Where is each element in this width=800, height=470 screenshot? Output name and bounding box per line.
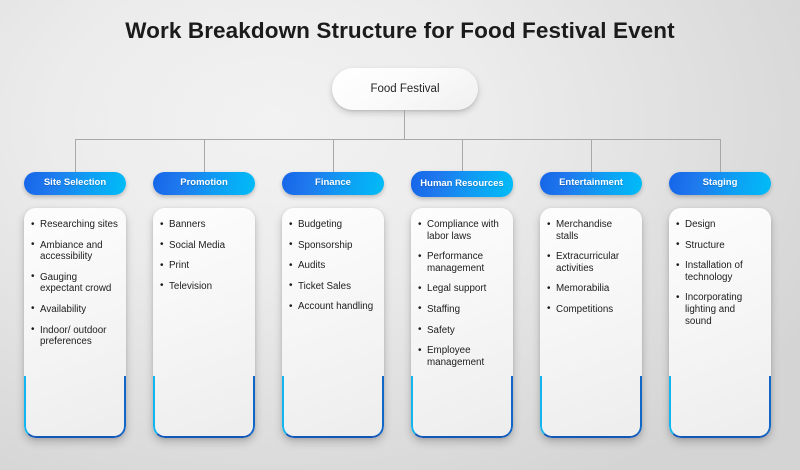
branch-column-human-resources: Human Resources Compliance with labor la… <box>411 172 513 438</box>
branch-badge-entertainment[interactable]: Entertainment <box>540 172 642 195</box>
root-node-label: Food Festival <box>370 83 439 95</box>
card-accent-border <box>282 376 384 438</box>
list-item: Indoor/ outdoor preferences <box>40 325 119 348</box>
wbs-diagram: Work Breakdown Structure for Food Festiv… <box>0 0 800 470</box>
list-item: Incorporating lighting and sound <box>685 292 764 327</box>
list-item: Audits <box>298 260 377 272</box>
branch-badge-label: Human Resources <box>420 179 503 190</box>
branch-card-staging: Design Structure Installation of technol… <box>669 208 771 438</box>
list-item: Compliance with labor laws <box>427 219 506 242</box>
list-item: Availability <box>40 304 119 316</box>
branch-task-list: Banners Social Media Print Television <box>153 208 255 292</box>
list-item: Social Media <box>169 240 248 252</box>
branch-column-site-selection: Site Selection Researching sites Ambianc… <box>24 172 126 438</box>
branch-badge-site-selection[interactable]: Site Selection <box>24 172 126 195</box>
branch-badge-finance[interactable]: Finance <box>282 172 384 195</box>
list-item: Design <box>685 219 764 231</box>
card-accent-border <box>411 376 513 438</box>
list-item: Budgeting <box>298 219 377 231</box>
list-item: Print <box>169 260 248 272</box>
list-item: Legal support <box>427 283 506 295</box>
branch-task-list: Researching sites Ambiance and accessibi… <box>24 208 126 348</box>
card-accent-border <box>540 376 642 438</box>
branch-badge-label: Entertainment <box>559 178 623 189</box>
branch-card-site-selection: Researching sites Ambiance and accessibi… <box>24 208 126 438</box>
list-item: Ambiance and accessibility <box>40 240 119 263</box>
branch-badge-staging[interactable]: Staging <box>669 172 771 195</box>
branch-task-list: Budgeting Sponsorship Audits Ticket Sale… <box>282 208 384 313</box>
branch-column-entertainment: Entertainment Merchandise stalls Extracu… <box>540 172 642 438</box>
branch-column-promotion: Promotion Banners Social Media Print Tel… <box>153 172 255 438</box>
list-item: Staffing <box>427 304 506 316</box>
list-item: Television <box>169 281 248 293</box>
branch-badge-promotion[interactable]: Promotion <box>153 172 255 195</box>
connector-drop-1 <box>75 139 76 172</box>
list-item: Banners <box>169 219 248 231</box>
list-item: Safety <box>427 325 506 337</box>
list-item: Competitions <box>556 304 635 316</box>
branch-card-human-resources: Compliance with labor laws Performance m… <box>411 208 513 438</box>
branch-badge-label: Staging <box>703 178 738 189</box>
page-title: Work Breakdown Structure for Food Festiv… <box>0 18 800 44</box>
branch-badge-label: Promotion <box>180 178 228 189</box>
list-item: Merchandise stalls <box>556 219 635 242</box>
list-item: Ticket Sales <box>298 281 377 293</box>
connector-horizontal-bus <box>75 139 721 140</box>
list-item: Performance management <box>427 251 506 274</box>
list-item: Extracurricular activities <box>556 251 635 274</box>
branch-column-staging: Staging Design Structure Installation of… <box>669 172 771 438</box>
branch-card-promotion: Banners Social Media Print Television <box>153 208 255 438</box>
connector-drop-4 <box>462 139 463 172</box>
list-item: Installation of technology <box>685 260 764 283</box>
branch-task-list: Compliance with labor laws Performance m… <box>411 208 513 368</box>
list-item: Structure <box>685 240 764 252</box>
card-accent-border <box>669 376 771 438</box>
connector-drop-5 <box>591 139 592 172</box>
branch-badge-human-resources[interactable]: Human Resources <box>411 171 513 197</box>
branch-badge-label: Site Selection <box>44 178 106 189</box>
card-accent-border <box>153 376 255 438</box>
connector-root-stem <box>404 110 405 139</box>
connector-drop-3 <box>333 139 334 172</box>
branch-card-entertainment: Merchandise stalls Extracurricular activ… <box>540 208 642 438</box>
branch-column-finance: Finance Budgeting Sponsorship Audits Tic… <box>282 172 384 438</box>
card-accent-border <box>24 376 126 438</box>
list-item: Sponsorship <box>298 240 377 252</box>
branch-card-finance: Budgeting Sponsorship Audits Ticket Sale… <box>282 208 384 438</box>
list-item: Researching sites <box>40 219 119 231</box>
branch-task-list: Merchandise stalls Extracurricular activ… <box>540 208 642 316</box>
list-item: Account handling <box>298 301 377 313</box>
branch-task-list: Design Structure Installation of technol… <box>669 208 771 327</box>
branch-badge-label: Finance <box>315 178 351 189</box>
list-item: Employee management <box>427 345 506 368</box>
root-node-food-festival[interactable]: Food Festival <box>332 68 478 110</box>
connector-drop-6 <box>720 139 721 172</box>
list-item: Gauging expectant crowd <box>40 272 119 295</box>
connector-drop-2 <box>204 139 205 172</box>
list-item: Memorabilia <box>556 283 635 295</box>
